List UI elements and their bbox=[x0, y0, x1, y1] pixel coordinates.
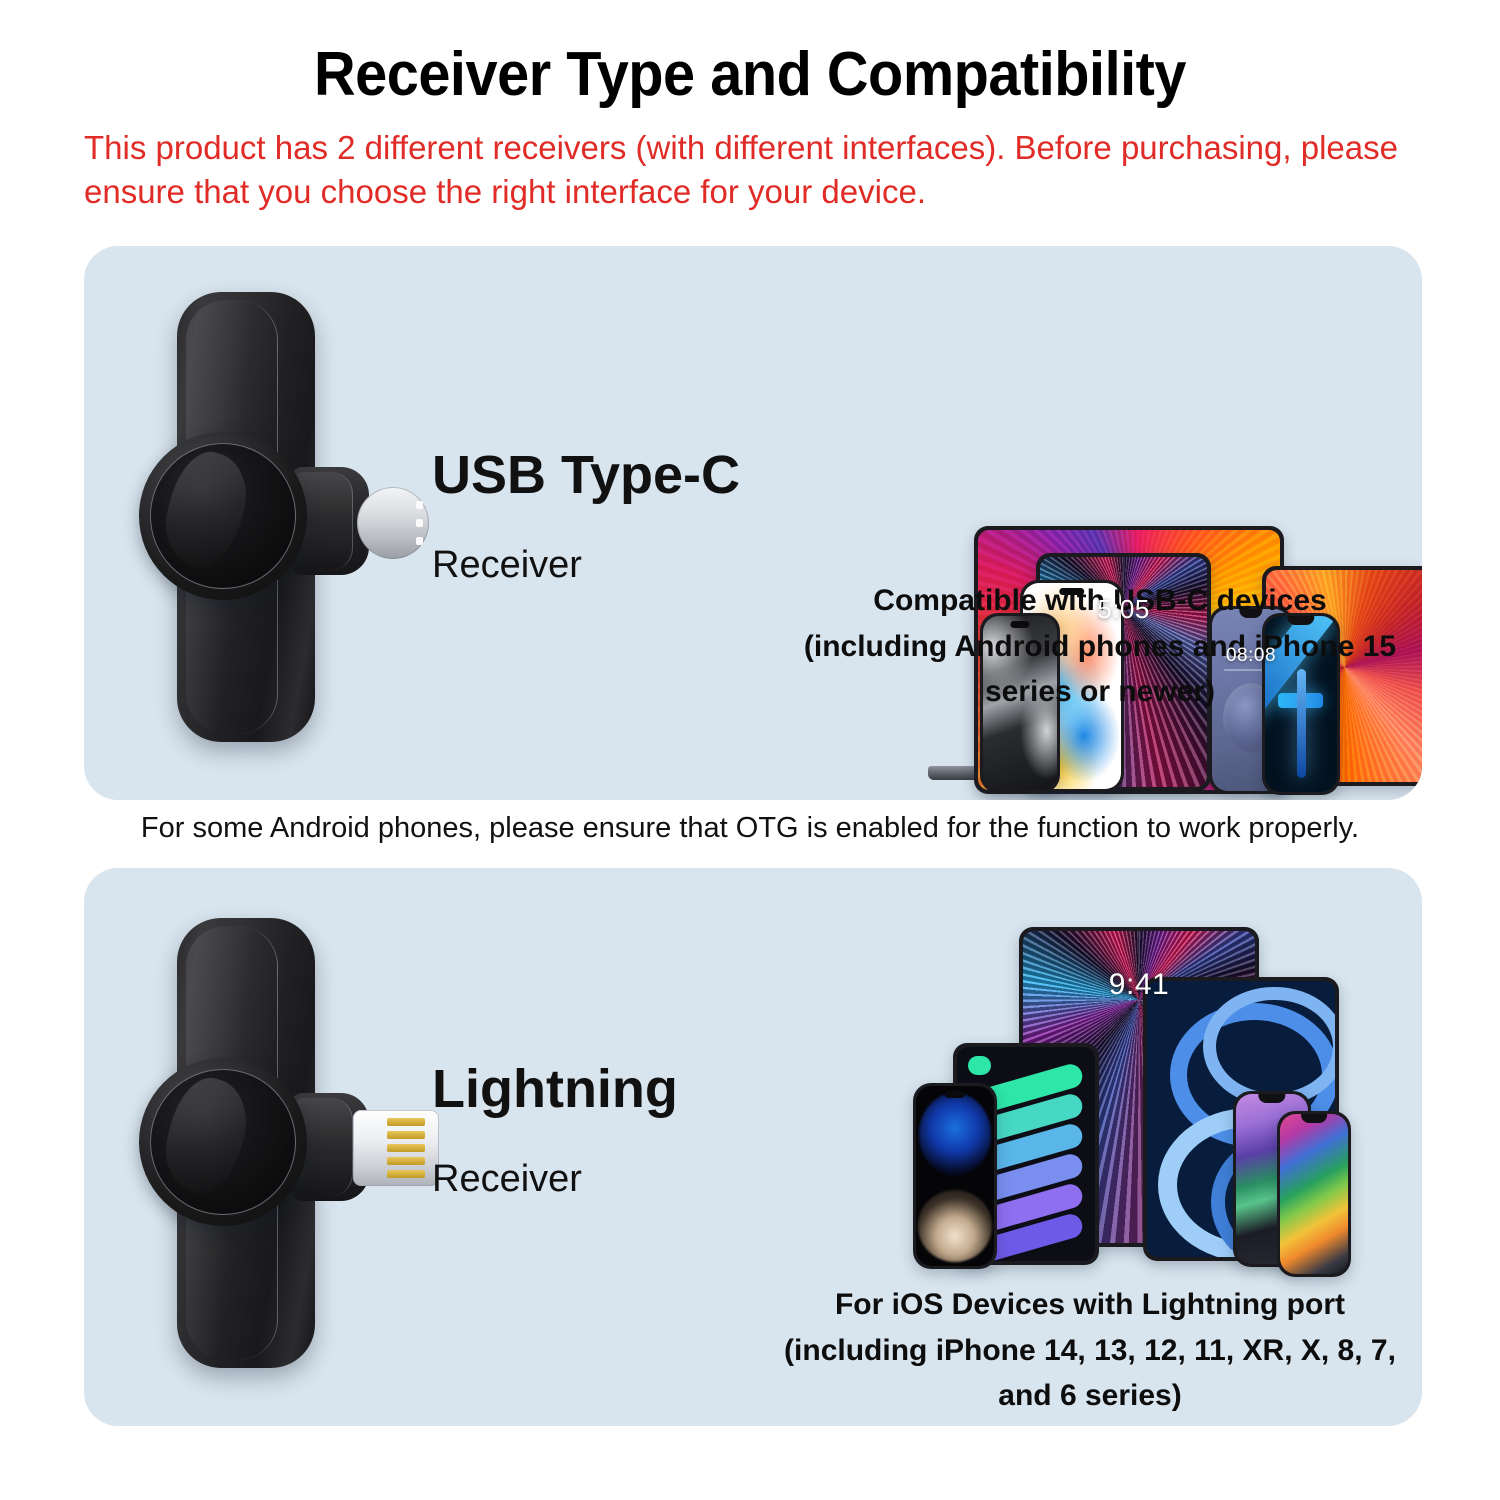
lightning-contacts bbox=[387, 1118, 425, 1178]
usb-c-receiver-name: USB Type-C bbox=[432, 448, 740, 502]
phone-clock-label: 08:08 bbox=[1226, 645, 1276, 667]
compat-line-2: (including Android phones and iPhone 15 bbox=[760, 624, 1422, 670]
lightning-compatibility-caption: For iOS Devices with Lightning port (inc… bbox=[740, 1282, 1422, 1419]
usb-c-receiver-sub: Receiver bbox=[432, 502, 740, 584]
ipad-clock-label: 9:41 bbox=[1109, 968, 1169, 1002]
lightning-receiver-sub: Receiver bbox=[432, 1116, 678, 1198]
lightning-label-group: Lightning Receiver bbox=[432, 1062, 678, 1198]
lightning-device-cluster: 9:41 bbox=[895, 915, 1345, 1275]
lightning-receiver-image bbox=[129, 908, 429, 1388]
lightning-connector-icon bbox=[353, 1110, 439, 1186]
receiver-clip-disc bbox=[139, 1058, 307, 1226]
receiver-clip-disc bbox=[139, 432, 307, 600]
usb-c-compatibility-caption: Compatible with USB-C devices (including… bbox=[760, 578, 1422, 715]
iphone-14-pro-device bbox=[913, 1083, 997, 1269]
iphone-rainbow-device bbox=[1277, 1111, 1351, 1277]
usb-c-connector-icon bbox=[357, 487, 429, 559]
usb-c-receiver-image bbox=[129, 282, 429, 762]
warning-text: This product has 2 different receivers (… bbox=[0, 106, 1500, 213]
compat-line-3: series or newer) bbox=[760, 669, 1422, 715]
panel-lightning: 9:41 bbox=[84, 868, 1422, 1426]
compat-line-3: and 6 series) bbox=[740, 1373, 1422, 1419]
usb-c-pins bbox=[416, 501, 424, 545]
tablet-clock-label: 5:05 bbox=[1097, 594, 1150, 625]
compat-line-2: (including iPhone 14, 13, 12, 11, XR, X,… bbox=[740, 1328, 1422, 1374]
compat-line-1: Compatible with USB-C devices bbox=[760, 578, 1422, 624]
page-title: Receiver Type and Compatibility bbox=[53, 0, 1448, 106]
usb-c-label-group: USB Type-C Receiver bbox=[432, 448, 740, 584]
lightning-receiver-name: Lightning bbox=[432, 1062, 678, 1116]
header: Receiver Type and Compatibility This pro… bbox=[0, 0, 1500, 213]
compat-line-1: For iOS Devices with Lightning port bbox=[740, 1282, 1422, 1328]
panel-usb-c: 5:05 08:08 bbox=[84, 246, 1422, 800]
otg-note: For some Android phones, please ensure t… bbox=[0, 812, 1500, 845]
